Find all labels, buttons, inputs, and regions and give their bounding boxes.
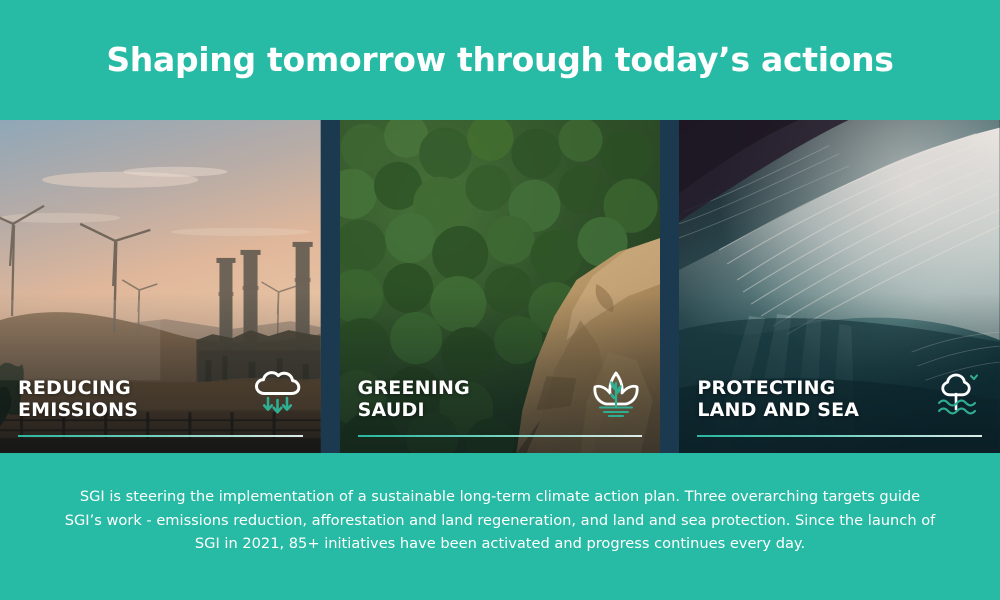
card-title-line2: LAND AND SEA	[697, 399, 859, 421]
footer-band: SGI is steering the implementation of a …	[0, 453, 1000, 600]
card-title-line2: EMISSIONS	[18, 399, 138, 421]
footer-paragraph: SGI is steering the implementation of a …	[60, 485, 940, 556]
pillar-card-protecting-land-and-sea[interactable]: PROTECTINGLAND AND SEA	[679, 120, 1000, 453]
card-title: REDUCINGEMISSIONS	[18, 378, 138, 421]
sprout-in-leaf-outline-icon	[590, 369, 642, 419]
card-divider-rule	[358, 435, 643, 437]
page-title: Shaping tomorrow through today’s actions	[106, 42, 893, 78]
card-title-line1: GREENING	[358, 377, 470, 399]
card-title: GREENINGSAUDI	[358, 378, 470, 421]
sgi-hero-page: Shaping tomorrow through today’s actions	[0, 0, 1000, 600]
card-content-overlay: GREENINGSAUDI	[340, 369, 661, 453]
card-title-line1: PROTECTING	[697, 377, 835, 399]
pillar-card-reducing-emissions[interactable]: REDUCINGEMISSIONS	[0, 120, 321, 453]
card-divider-rule	[18, 435, 303, 437]
card-divider-rule	[697, 435, 982, 437]
card-content-overlay: PROTECTINGLAND AND SEA	[679, 369, 1000, 453]
card-title-line2: SAUDI	[358, 399, 425, 421]
cloud-with-down-arrows-icon	[251, 369, 303, 419]
header-band: Shaping tomorrow through today’s actions	[0, 0, 1000, 120]
pillar-card-greening-saudi[interactable]: GREENINGSAUDI	[340, 120, 661, 453]
tree-over-waves-icon	[930, 369, 982, 419]
card-title-line1: REDUCING	[18, 377, 131, 399]
card-label-row: REDUCINGEMISSIONS	[18, 369, 303, 421]
card-title: PROTECTINGLAND AND SEA	[697, 378, 859, 421]
card-label-row: PROTECTINGLAND AND SEA	[697, 369, 982, 421]
pillar-cards-band: REDUCINGEMISSIONS	[0, 120, 1000, 453]
card-content-overlay: REDUCINGEMISSIONS	[0, 369, 321, 453]
card-label-row: GREENINGSAUDI	[358, 369, 643, 421]
